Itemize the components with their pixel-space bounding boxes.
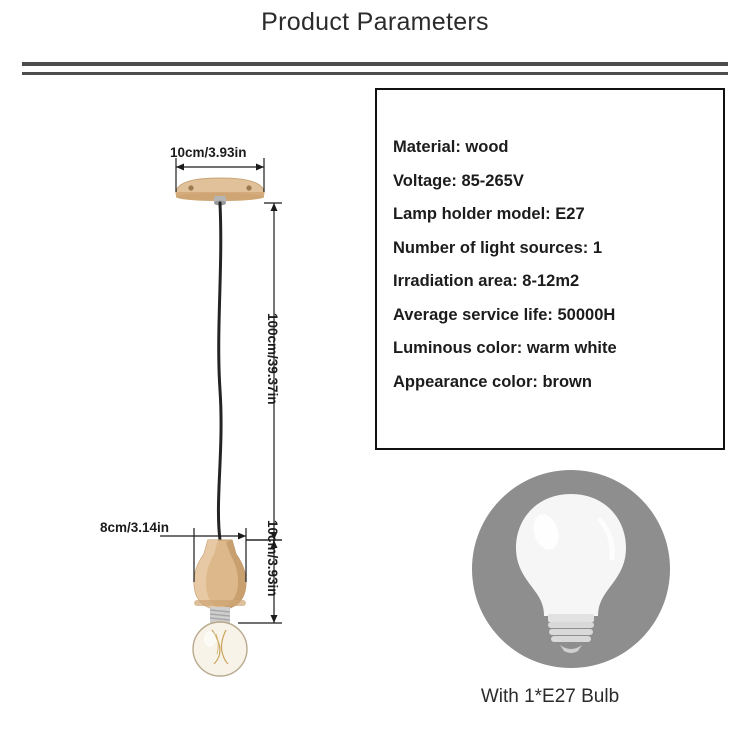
- spec-item-material: Material: wood: [393, 131, 723, 165]
- bulb-screw-base: [210, 607, 230, 623]
- ceiling-canopy: [176, 178, 264, 205]
- bulb-glass: [516, 494, 626, 616]
- bulb-caption: With 1*E27 Bulb: [375, 686, 725, 708]
- product-parameters-page: Product Parameters: [0, 0, 750, 750]
- spec-item-lamp-holder-model: Lamp holder model: E27: [393, 198, 723, 232]
- wood-socket-holder: [194, 540, 246, 608]
- dim-label-cord-length: 100cm/39.37in: [265, 313, 280, 405]
- spec-item-luminous-color: Luminous color: warm white: [393, 332, 723, 366]
- bulb-screw-base: [548, 614, 594, 653]
- header-divider-thick: [22, 62, 728, 66]
- spec-list: Material: wood Voltage: 85-265V Lamp hol…: [393, 131, 723, 399]
- dim-label-socket-width: 8cm/3.14in: [100, 520, 169, 535]
- spec-item-light-sources: Number of light sources: 1: [393, 232, 723, 266]
- spec-item-voltage: Voltage: 85-265V: [393, 165, 723, 199]
- dim-label-canopy-width: 10cm/3.93in: [170, 145, 247, 160]
- page-title: Product Parameters: [0, 8, 750, 37]
- spec-item-service-life: Average service life: 50000H: [393, 299, 723, 333]
- globe-bulb: [193, 622, 247, 676]
- dim-label-socket-height: 10cm/3.93in: [265, 520, 280, 597]
- header-divider-thin: [22, 72, 728, 75]
- e27-bulb-illustration: [472, 470, 670, 668]
- spec-item-irradiation-area: Irradiation area: 8-12m2: [393, 265, 723, 299]
- spec-item-appearance-color: Appearance color: brown: [393, 366, 723, 400]
- cord: [218, 203, 221, 540]
- lamp-dimension-drawing: [60, 130, 380, 690]
